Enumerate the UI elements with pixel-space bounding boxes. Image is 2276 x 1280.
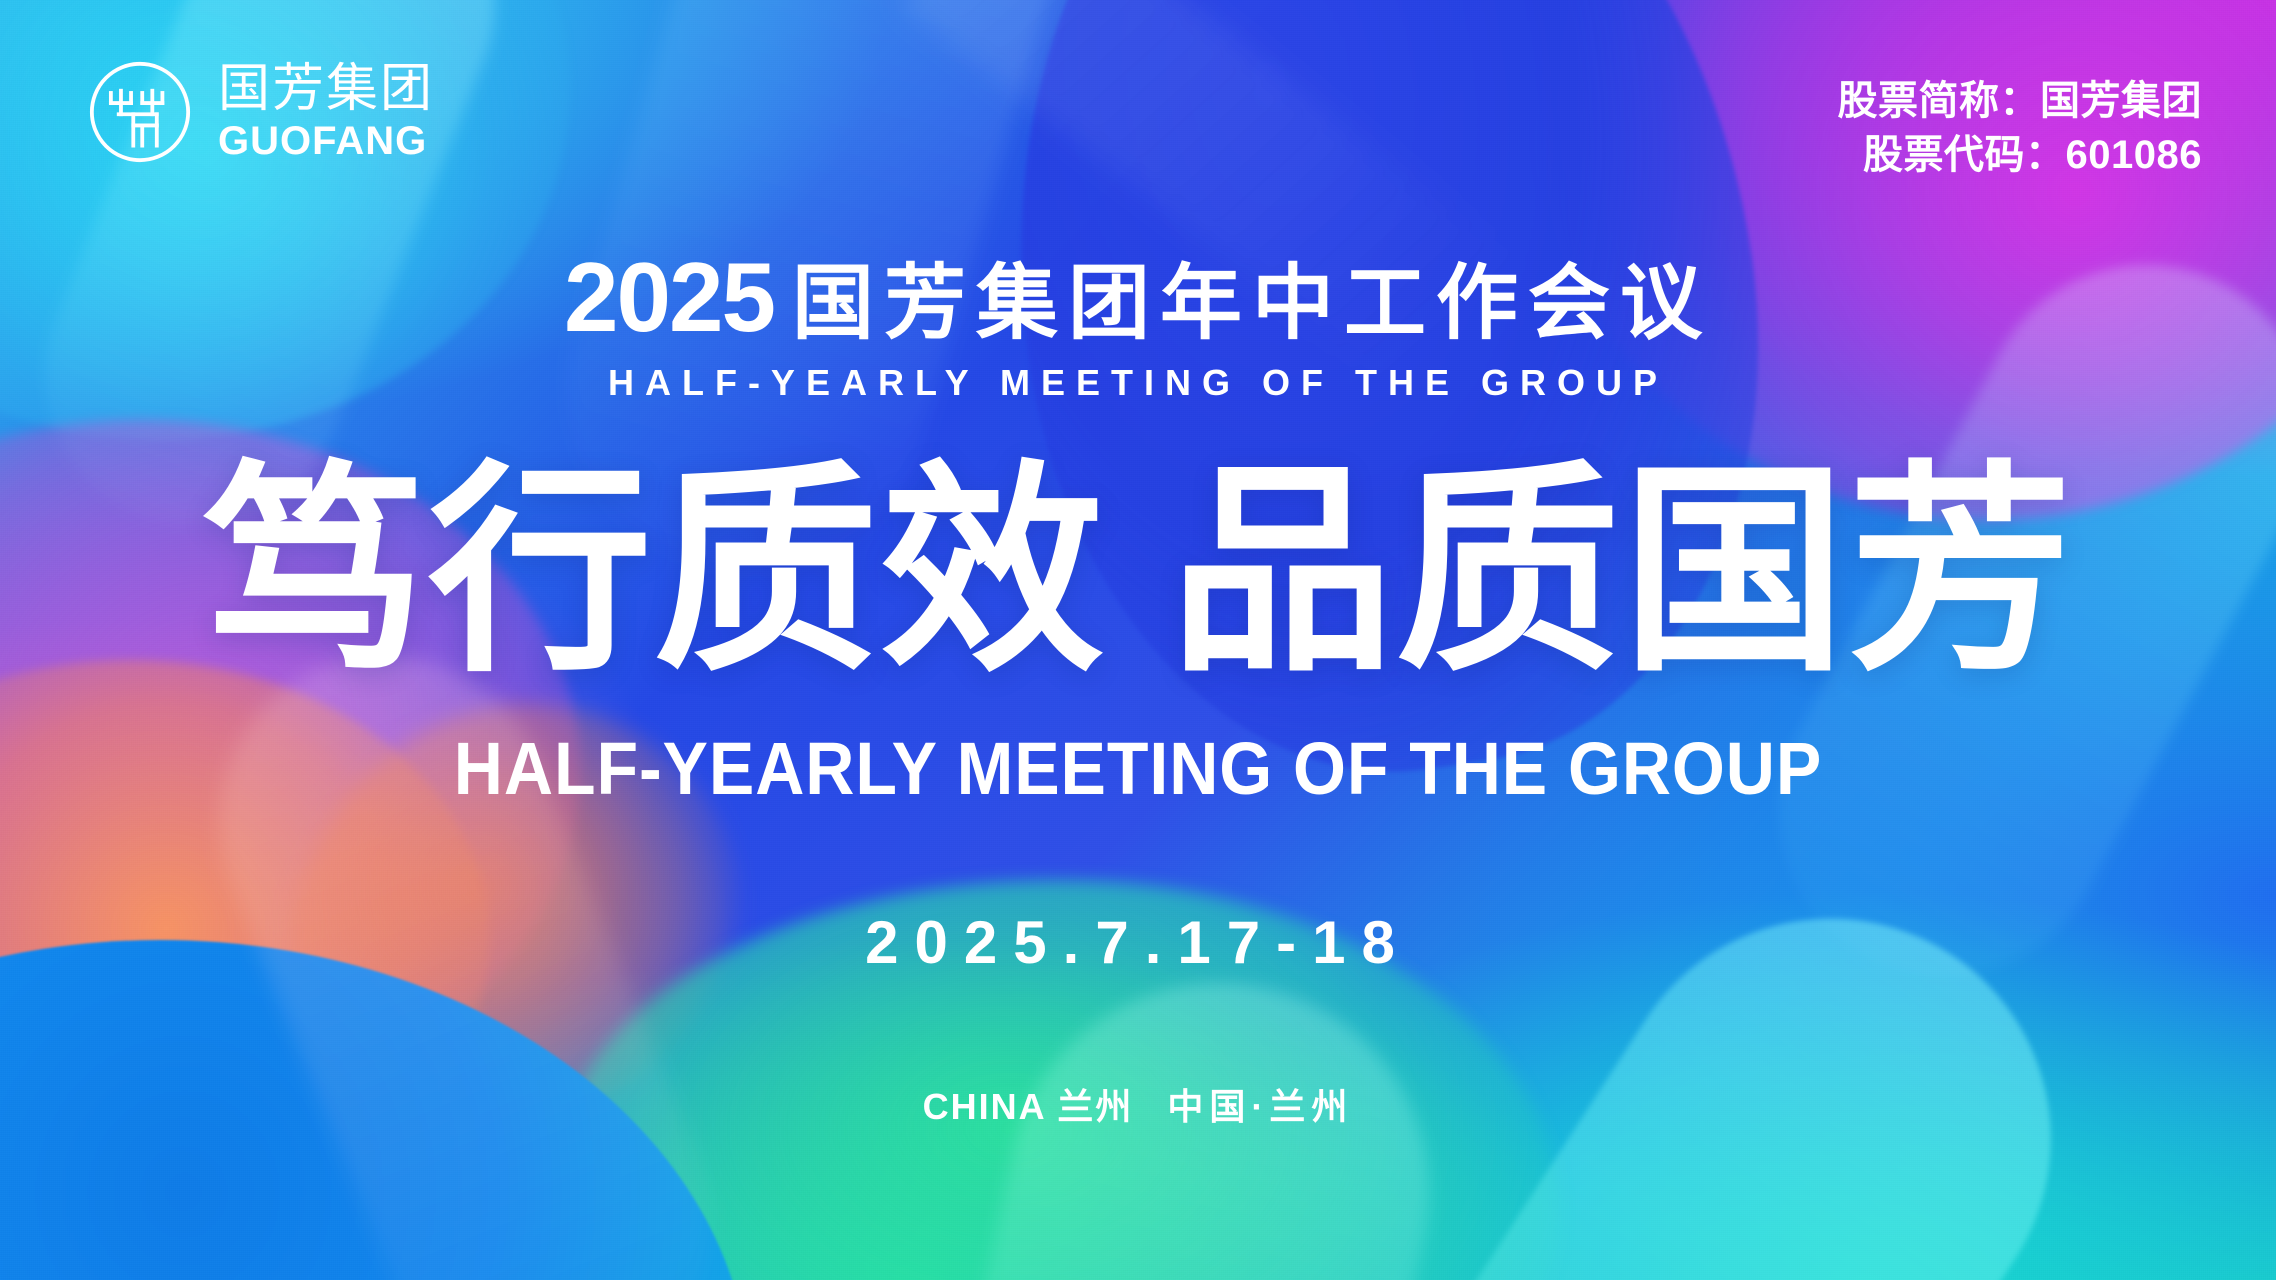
event-title-year: 2025 (564, 248, 774, 346)
event-location-cn: 中国·兰州 (1167, 1086, 1353, 1127)
logo-name-cn: 国芳集团 (218, 63, 434, 115)
slogan-part-1: 笃行质效 (202, 447, 1106, 697)
logo-name-en: GUOFANG (218, 121, 434, 161)
stock-information: 股票简称：国芳集团 股票代码：601086 (1838, 74, 2203, 183)
conference-poster: 国芳集团 GUOFANG 股票简称：国芳集团 股票代码：601086 2025 … (0, 0, 2276, 1280)
event-title-block: 2025 国芳集团年中工作会议 HALF-YEARLY MEETING OF T… (0, 248, 2276, 404)
slogan-headline: 笃行质效品质国芳 (0, 452, 2276, 694)
stock-code-line: 股票代码：601086 (1838, 128, 2203, 182)
event-title-subtitle-en: HALF-YEARLY MEETING OF THE GROUP (0, 362, 2276, 404)
stock-name-line: 股票简称：国芳集团 (1838, 74, 2203, 128)
event-location-en: CHINA 兰州 (923, 1086, 1134, 1127)
guofang-deer-emblem-icon (84, 56, 196, 168)
event-location: CHINA 兰州中国·兰州 (0, 1078, 2276, 1130)
slogan-part-2: 品质国芳 (1170, 447, 2074, 697)
event-title-cn: 国芳集团年中工作会议 (792, 263, 1712, 345)
slogan-strapline-en: HALF-YEARLY MEETING OF THE GROUP (91, 726, 2185, 811)
company-logo: 国芳集团 GUOFANG (84, 56, 434, 168)
event-title-main: 2025 国芳集团年中工作会议 (564, 248, 1712, 346)
event-date: 2025.7.17-18 (0, 908, 2276, 977)
